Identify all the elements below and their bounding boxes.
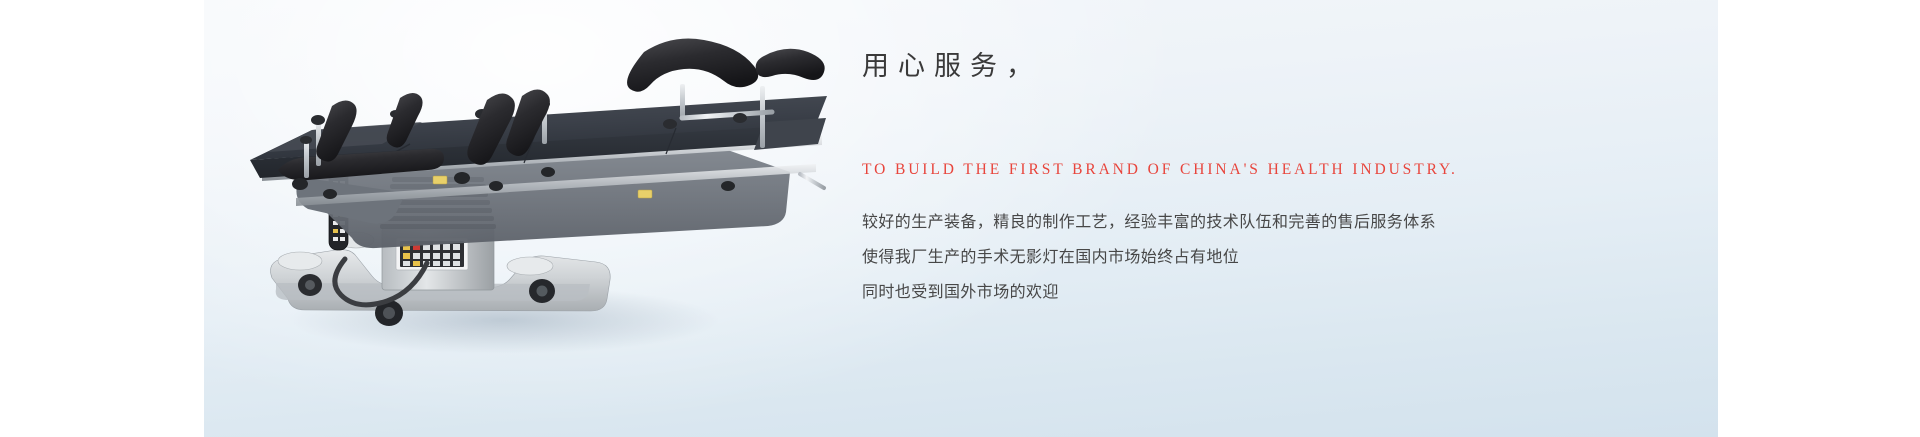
hero-banner: 用心服务， TO BUILD THE FIRST BRAND OF CHINA'… xyxy=(204,0,1718,437)
banner-headline: 用心服务， xyxy=(862,50,1042,82)
description-line-2: 使得我厂生产的手术无影灯在国内市场始终占有地位 xyxy=(862,240,1622,275)
banner-page: 用心服务， TO BUILD THE FIRST BRAND OF CHINA'… xyxy=(0,0,1920,437)
description-line-3: 同时也受到国外市场的欢迎 xyxy=(862,275,1622,310)
banner-slogan-english: TO BUILD THE FIRST BRAND OF CHINA'S HEAL… xyxy=(862,161,1458,179)
banner-description: 较好的生产装备，精良的制作工艺，经验丰富的技术队伍和完善的售后服务体系 使得我厂… xyxy=(862,205,1622,310)
description-line-1: 较好的生产装备，精良的制作工艺，经验丰富的技术队伍和完善的售后服务体系 xyxy=(862,205,1622,240)
banner-text-block: 用心服务， TO BUILD THE FIRST BRAND OF CHINA'… xyxy=(862,0,1682,437)
product-image-operating-table xyxy=(204,0,894,437)
